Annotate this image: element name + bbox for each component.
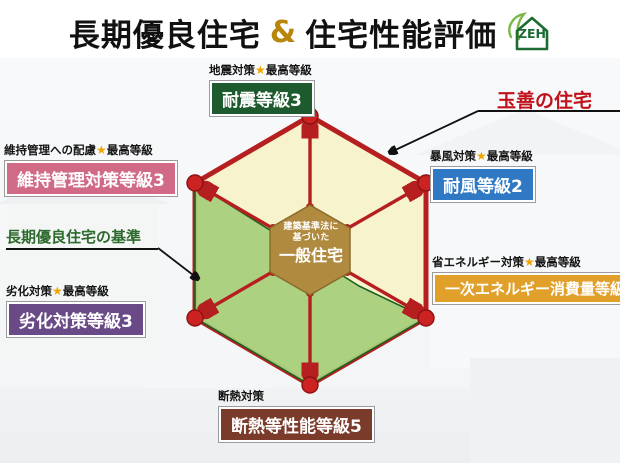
spec-quake-caption-text: 地震対策 (209, 63, 255, 77)
callout-standard-underline (6, 248, 158, 250)
spec-quake-box: 耐震等級3 (209, 80, 315, 117)
spec-maintenance-grade-note: 最高等級 (107, 143, 153, 157)
zeh-house-leaf-icon: ZEH (505, 11, 551, 53)
callout-standard: 長期優良住宅の基準 (6, 226, 141, 247)
spec-energy: 省エネルギー対策★最高等級 一次エネルギー消費量等級6 (432, 254, 620, 305)
page-title: 長期優良住宅 & 住宅性能評価 ZEH (0, 6, 620, 58)
spec-wind: 暴風対策★最高等級 耐風等級2 (430, 148, 536, 203)
spec-maintenance-box: 維持管理対策等級3 (4, 160, 178, 197)
spec-wind-caption: 暴風対策★最高等級 (430, 148, 536, 164)
star-icon: ★ (96, 143, 107, 157)
spec-energy-value: 一次エネルギー消費量等級6 (435, 275, 620, 302)
spec-insulation-box: 断熱等性能等級5 (218, 406, 375, 443)
spec-energy-grade-note: 最高等級 (535, 255, 581, 269)
spec-quake-value: 耐震等級3 (212, 83, 312, 114)
spec-quake-caption: 地震対策★最高等級 (209, 62, 315, 78)
spec-maintenance-caption-text: 維持管理への配慮 (4, 143, 96, 157)
spec-energy-box: 一次エネルギー消費量等級6 (432, 272, 620, 305)
spec-insulation-value: 断熱等性能等級5 (221, 409, 372, 440)
spec-degradation-caption-text: 劣化対策 (6, 284, 52, 298)
callout-company: 玉善の住宅 (497, 86, 592, 113)
spec-energy-caption-text: 省エネルギー対策 (432, 255, 524, 269)
spec-wind-caption-text: 暴風対策 (430, 149, 476, 163)
spec-wind-value: 耐風等級2 (433, 169, 533, 200)
spec-maintenance: 維持管理への配慮★最高等級 維持管理対策等級3 (4, 142, 178, 197)
spec-degradation: 劣化対策★最高等級 劣化対策等級3 (6, 283, 146, 338)
spec-quake-grade-note: 最高等級 (266, 63, 312, 77)
spec-energy-caption: 省エネルギー対策★最高等級 (432, 254, 620, 270)
spec-insulation: 断熱対策 断熱等性能等級5 (218, 388, 375, 443)
spec-degradation-box: 劣化対策等級3 (6, 301, 146, 338)
spec-wind-box: 耐風等級2 (430, 166, 536, 203)
callout-company-underline (478, 110, 620, 112)
spec-insulation-caption-text: 断熱対策 (218, 389, 264, 403)
star-icon: ★ (255, 63, 266, 77)
title-ampersand: & (269, 15, 297, 50)
spec-maintenance-caption: 維持管理への配慮★最高等級 (4, 142, 178, 158)
infographic-canvas: 長期優良住宅 & 住宅性能評価 ZEH (0, 0, 620, 463)
spec-maintenance-value: 維持管理対策等級3 (7, 163, 175, 194)
spec-degradation-value: 劣化対策等級3 (9, 304, 143, 335)
star-icon: ★ (52, 284, 63, 298)
spec-insulation-caption: 断熱対策 (218, 388, 375, 404)
spec-quake: 地震対策★最高等級 耐震等級3 (209, 62, 315, 117)
spec-wind-grade-note: 最高等級 (487, 149, 533, 163)
zeh-label: ZEH (518, 26, 546, 41)
title-part-2: 住宅性能評価 (305, 10, 497, 55)
title-part-1: 長期優良住宅 (69, 10, 261, 55)
spec-degradation-caption: 劣化対策★最高等級 (6, 283, 146, 299)
star-icon: ★ (476, 149, 487, 163)
star-icon: ★ (524, 255, 535, 269)
spec-degradation-grade-note: 最高等級 (63, 284, 109, 298)
